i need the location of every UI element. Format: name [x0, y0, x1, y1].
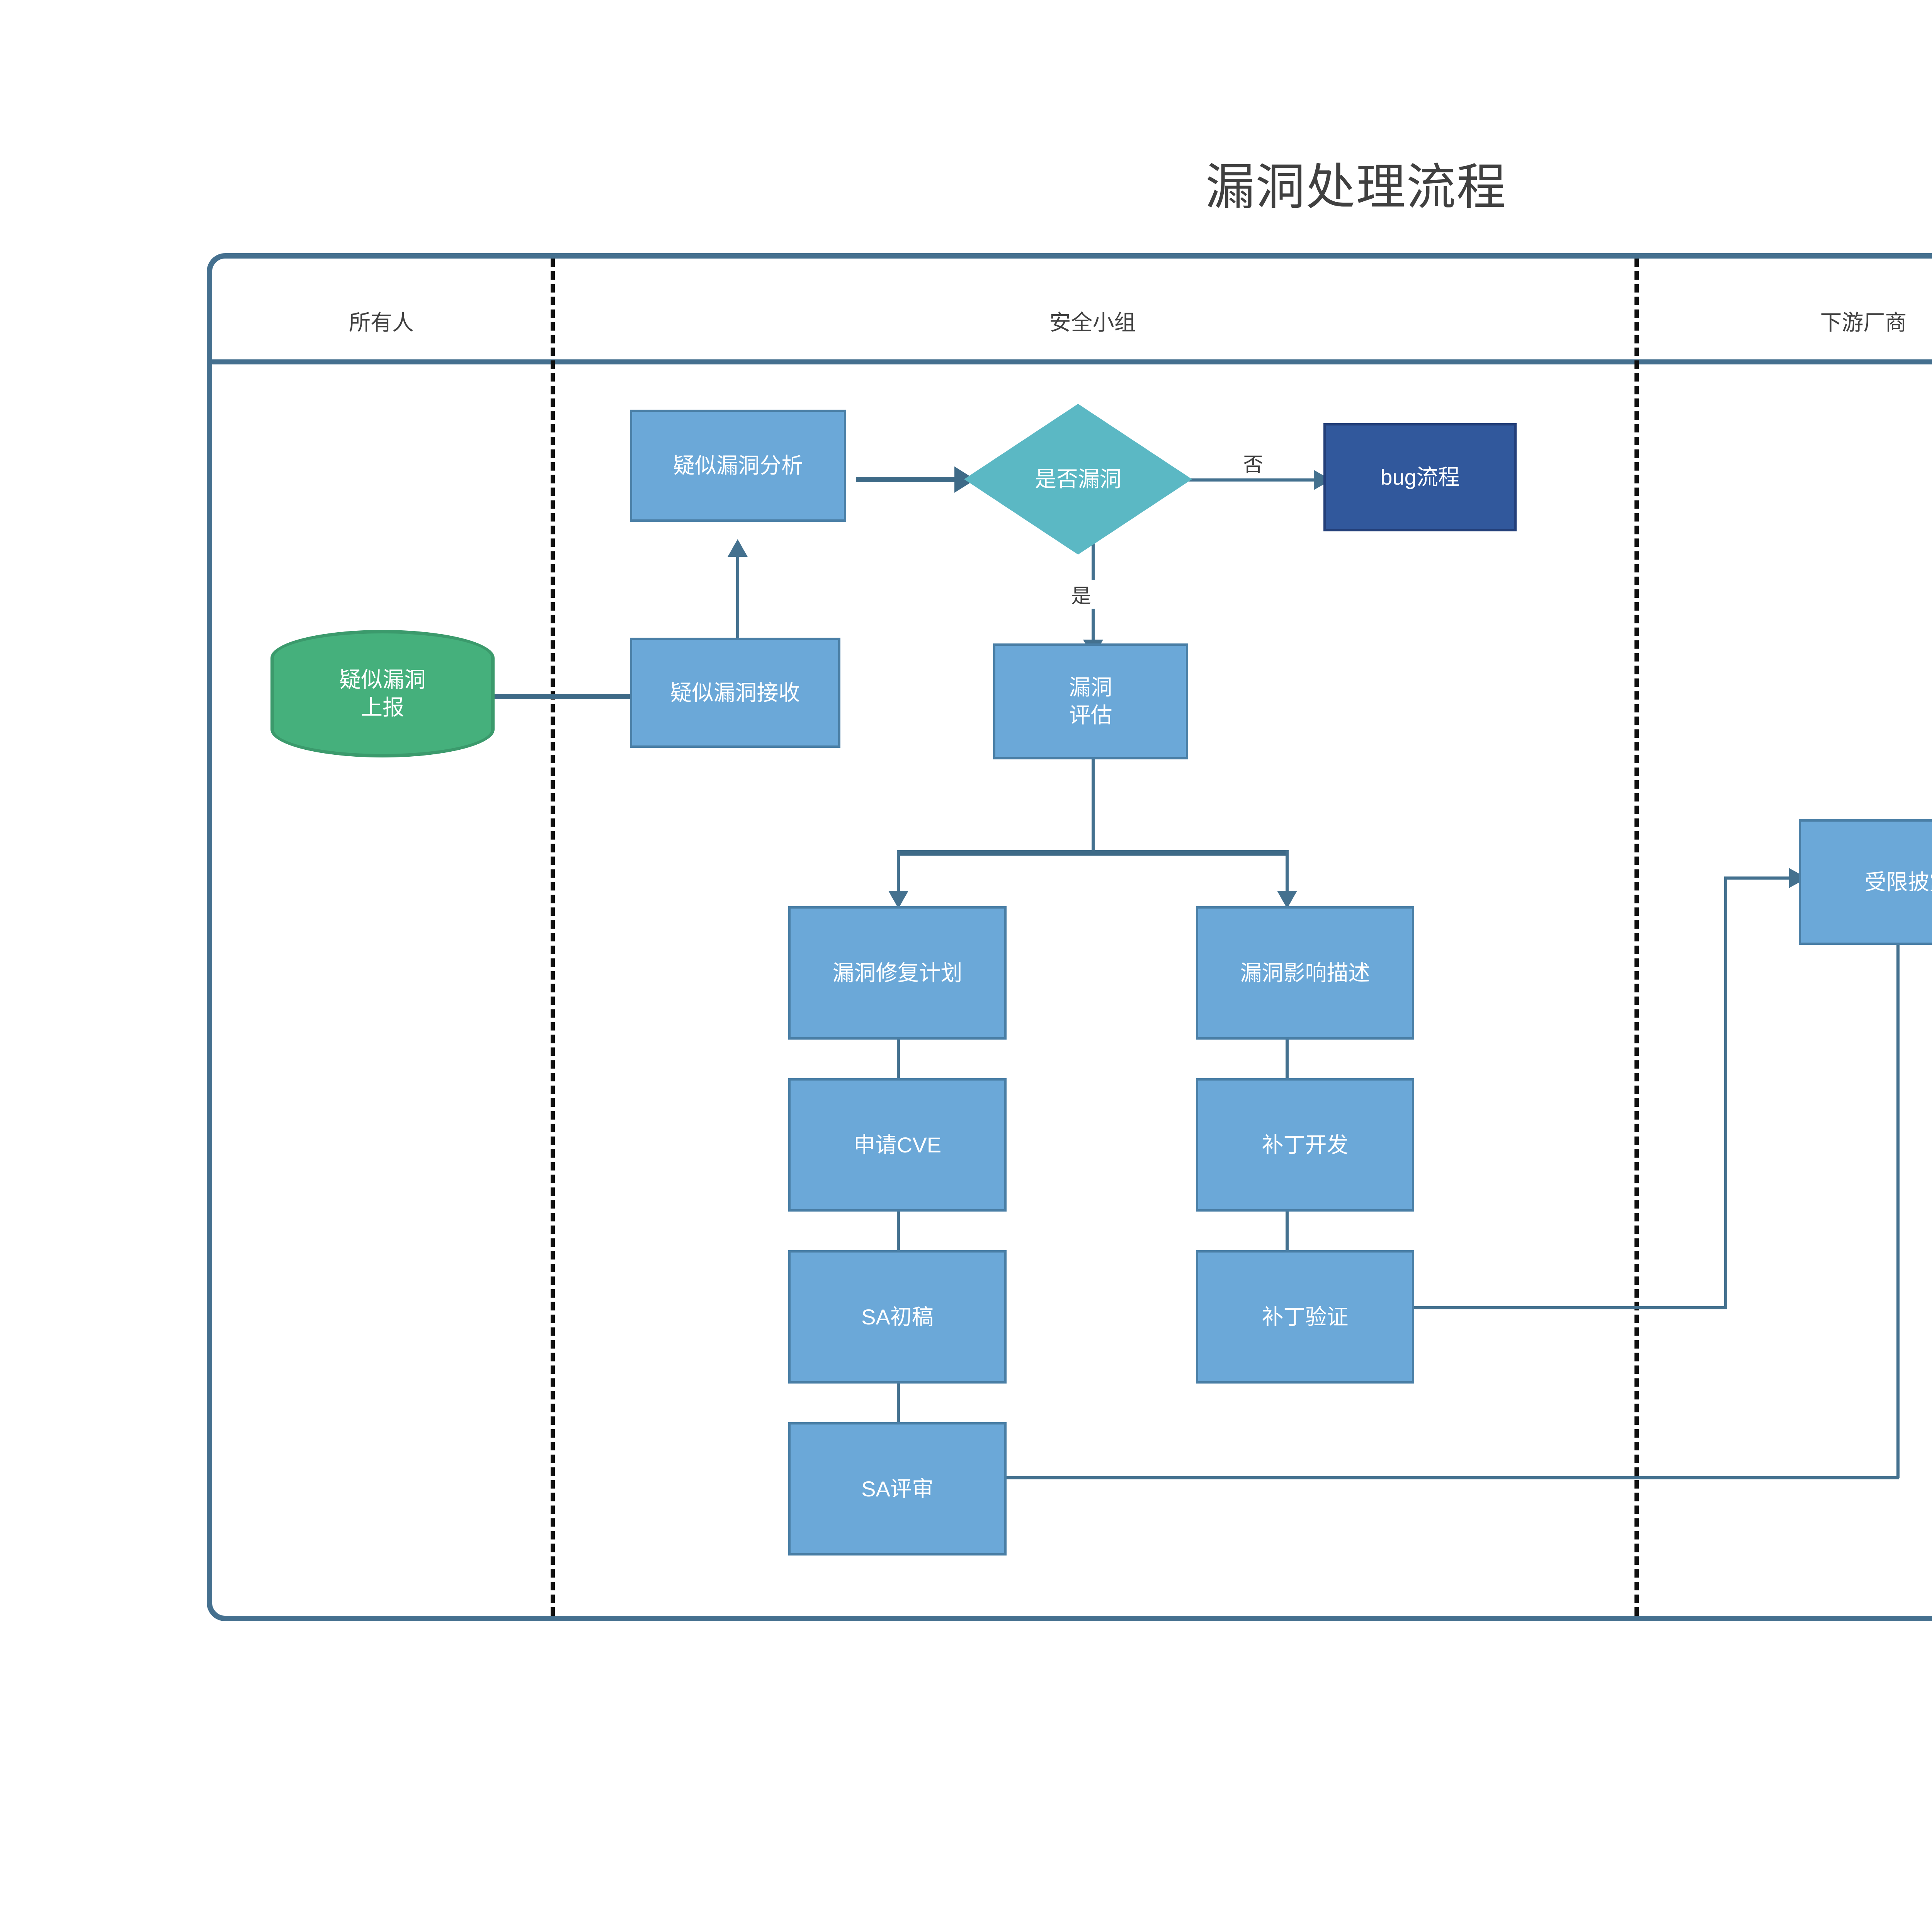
lane-divider-2	[1634, 259, 1639, 1616]
page-title: 漏洞处理流程	[0, 147, 1932, 218]
edge-verify-to-disclosure-v	[1724, 876, 1727, 1309]
edge-sareview-to-disclosure-v	[1896, 937, 1900, 1478]
edge-label-no: 否	[1233, 448, 1274, 477]
lane-header-separator	[212, 359, 1932, 364]
node-patch-dev[interactable]: 补丁开发	[1196, 1078, 1414, 1212]
flowchart-canvas: 漏洞处理流程 所有人 安全小组 下游厂商 所有人 否 是	[0, 0, 1932, 1918]
edge-receive-to-analyze	[736, 548, 739, 652]
node-patch-verify-label: 补丁验证	[1262, 1303, 1349, 1331]
node-fix-plan[interactable]: 漏洞修复计划	[788, 906, 1007, 1040]
node-receive-label: 疑似漏洞接收	[670, 679, 800, 707]
node-impact-desc-label: 漏洞影响描述	[1240, 959, 1370, 987]
edge-label-yes: 是	[1059, 580, 1104, 609]
edge-decision-to-bugflow	[1188, 478, 1323, 482]
lane-divider-1	[551, 259, 555, 1616]
node-report[interactable]: 疑似漏洞 上报	[270, 630, 495, 757]
edge-receive-to-analyze-arrow	[728, 539, 748, 557]
edge-assess-fork-bar	[898, 850, 1289, 856]
node-assess-label: 漏洞 评估	[1069, 674, 1112, 729]
edge-assess-down	[1092, 758, 1095, 853]
edge-verify-to-disclosure-h2	[1724, 876, 1799, 880]
node-impact-desc[interactable]: 漏洞影响描述	[1196, 906, 1414, 1040]
edge-report-to-receive	[495, 694, 634, 699]
node-sa-review-label: SA评审	[861, 1475, 934, 1503]
node-analyze-label: 疑似漏洞分析	[673, 452, 803, 480]
edge-fork-left-down	[897, 850, 900, 895]
node-receive[interactable]: 疑似漏洞接收	[630, 638, 840, 748]
lane-label-security-team: 安全小组	[551, 305, 1634, 340]
node-sa-draft-label: SA初稿	[861, 1303, 934, 1331]
edge-verify-to-disclosure-h1	[1406, 1306, 1727, 1309]
node-is-vulnerability[interactable]: 是否漏洞	[964, 404, 1192, 555]
node-patch-dev-label: 补丁开发	[1262, 1131, 1349, 1159]
node-sa-draft[interactable]: SA初稿	[788, 1250, 1007, 1384]
node-limited-disclosure-label: 受限披露	[1865, 868, 1932, 896]
node-bug-flow-label: bug流程	[1380, 463, 1459, 491]
node-fix-plan-label: 漏洞修复计划	[833, 959, 963, 987]
node-is-vulnerability-label: 是否漏洞	[1035, 465, 1121, 493]
node-assess[interactable]: 漏洞 评估	[993, 643, 1188, 759]
node-patch-verify[interactable]: 补丁验证	[1196, 1250, 1414, 1384]
node-analyze[interactable]: 疑似漏洞分析	[630, 410, 846, 522]
node-apply-cve-label: 申请CVE	[854, 1131, 941, 1159]
edge-fork-right-down	[1286, 850, 1289, 895]
edge-sareview-to-disclosure-h	[999, 1476, 1899, 1479]
node-bug-flow[interactable]: bug流程	[1323, 423, 1517, 531]
node-apply-cve[interactable]: 申请CVE	[788, 1078, 1007, 1212]
node-limited-disclosure[interactable]: 受限披露	[1799, 819, 1932, 945]
node-sa-review[interactable]: SA评审	[788, 1422, 1007, 1556]
edge-analyze-to-decision	[856, 477, 964, 482]
lane-label-downstream-vendor: 下游厂商	[1634, 305, 1932, 340]
node-report-label: 疑似漏洞 上报	[339, 666, 426, 721]
lane-label-owner-left: 所有人	[212, 305, 551, 340]
